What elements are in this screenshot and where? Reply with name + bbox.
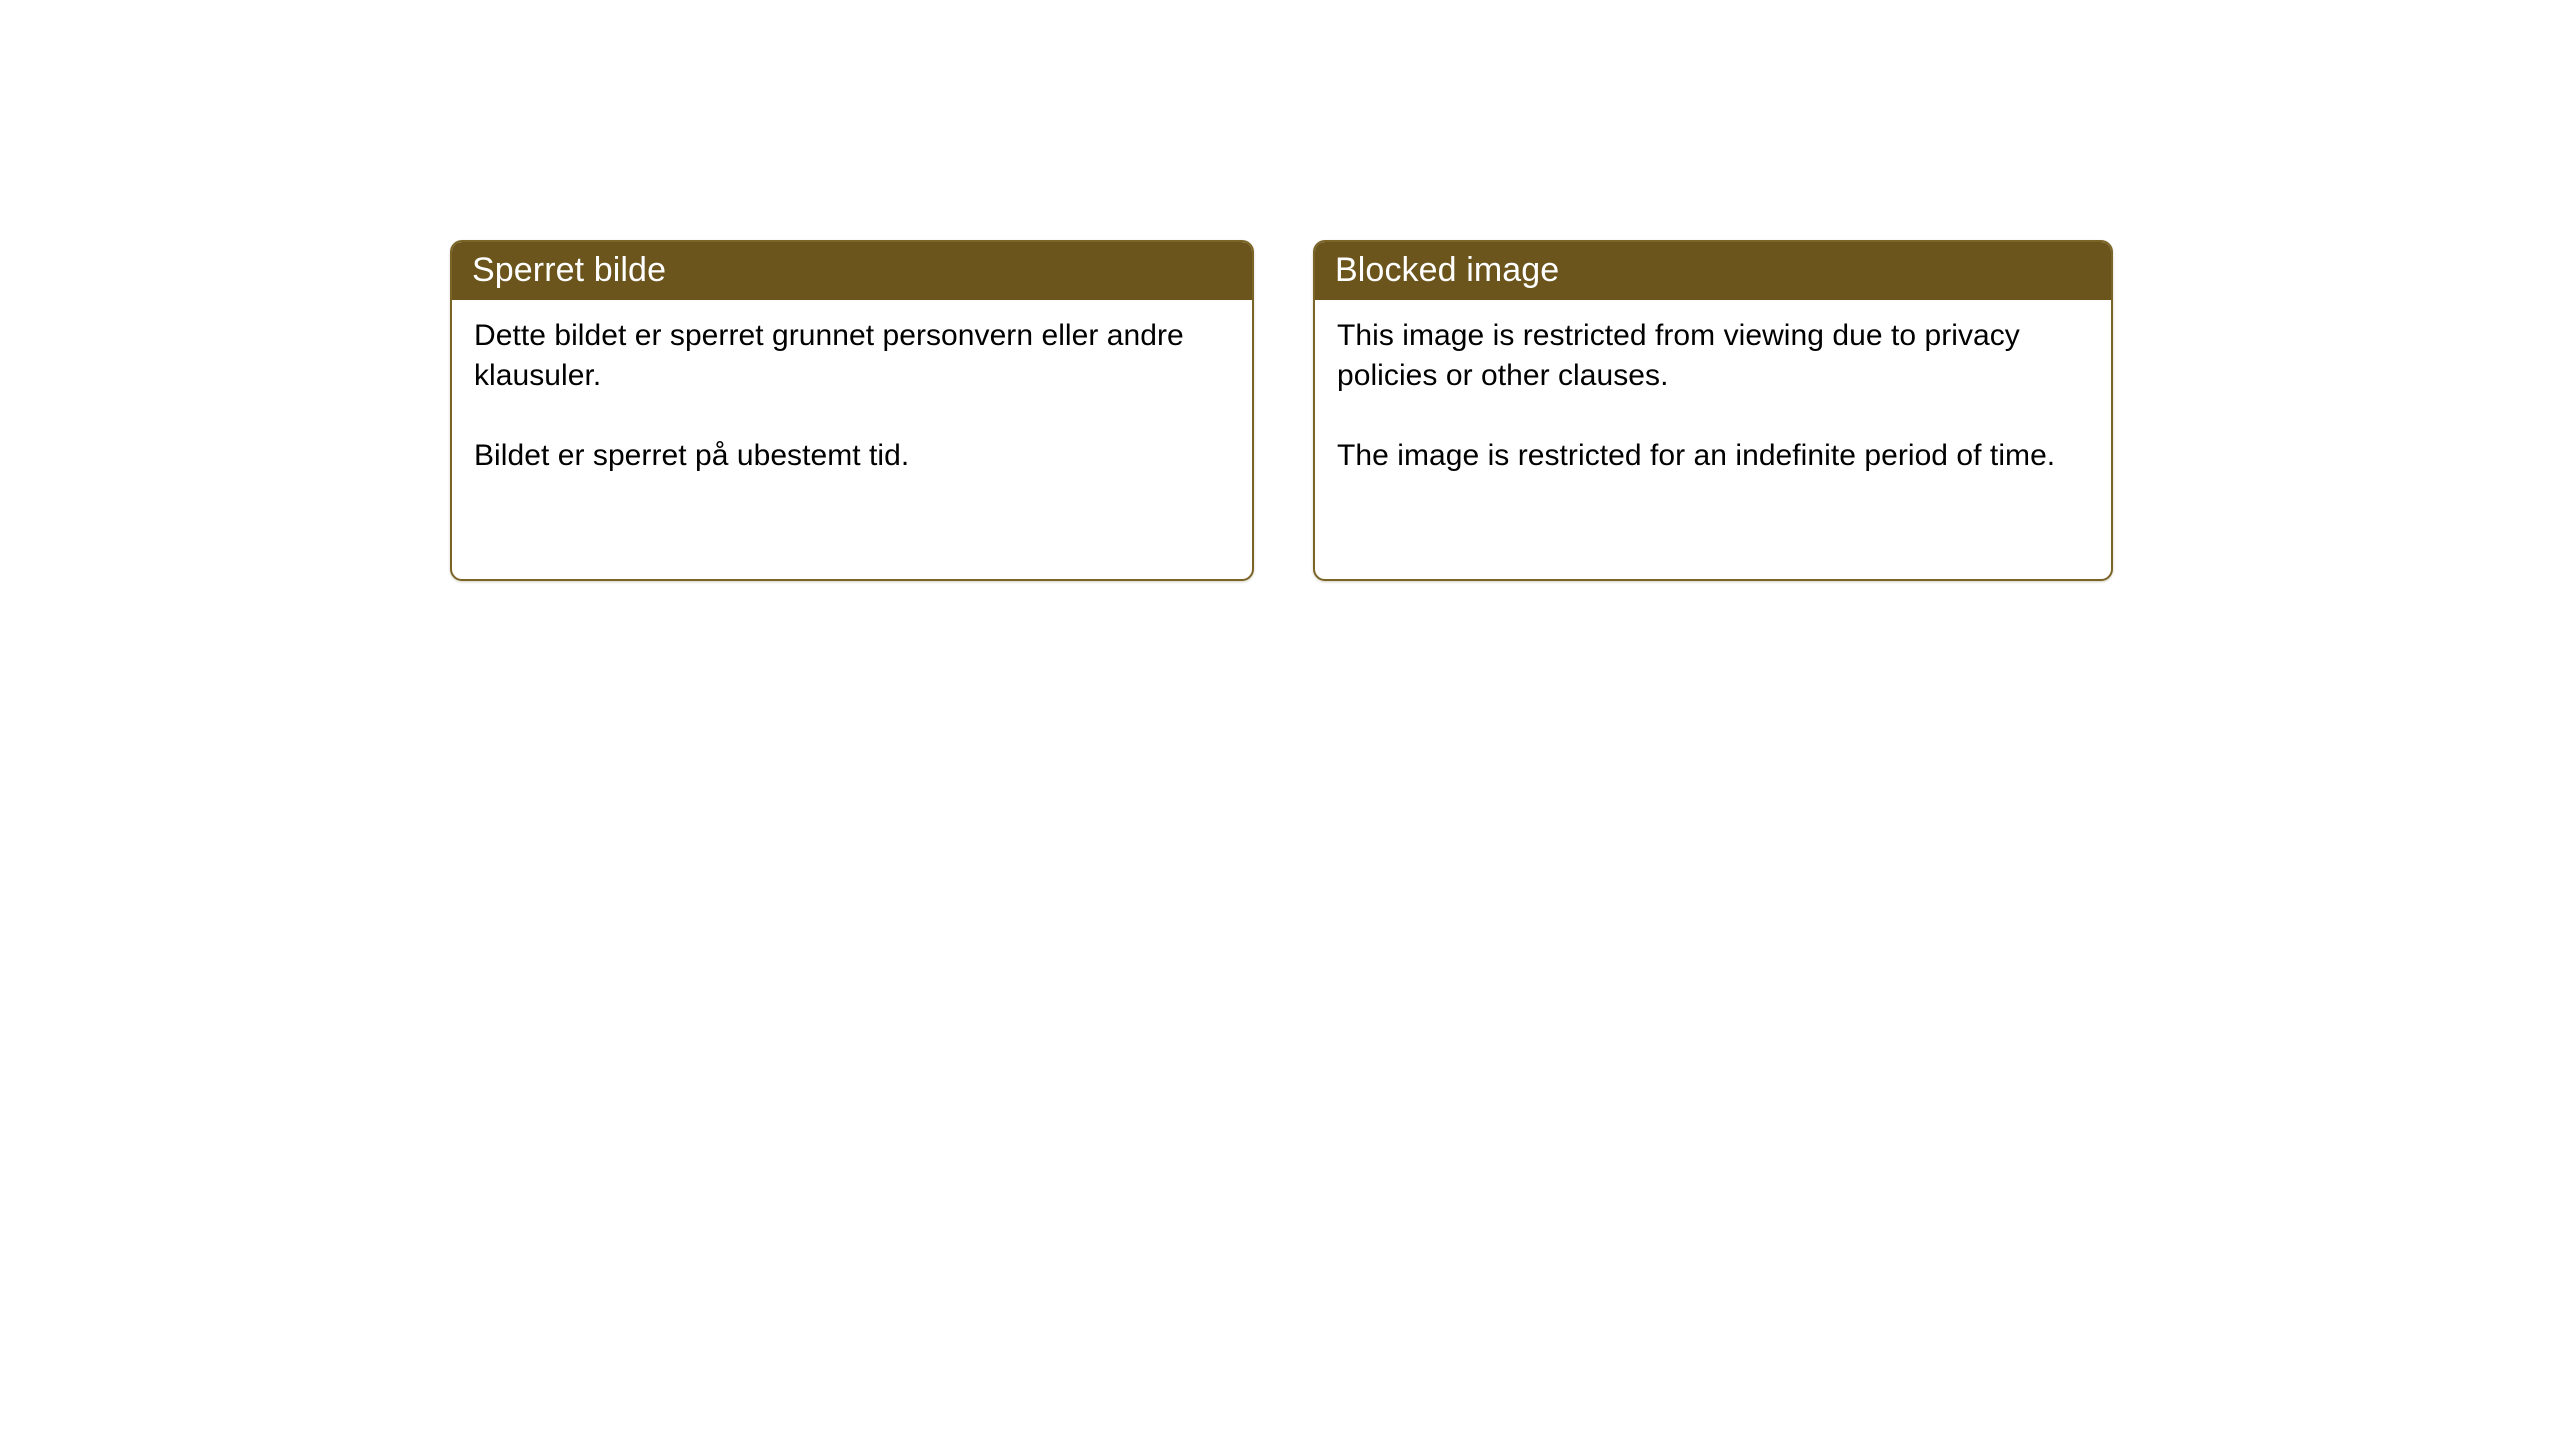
- card-header-english: Blocked image: [1313, 240, 2113, 300]
- card-title-english: Blocked image: [1335, 251, 1559, 289]
- card-body-english: This image is restricted from viewing du…: [1315, 300, 2111, 476]
- card-body-norwegian: Dette bildet er sperret grunnet personve…: [452, 300, 1252, 476]
- card-paragraph-restriction-duration-english: The image is restricted for an indefinit…: [1337, 436, 2089, 476]
- card-paragraph-restriction-reason-english: This image is restricted from viewing du…: [1337, 316, 2089, 396]
- card-paragraph-restriction-reason-norwegian: Dette bildet er sperret grunnet personve…: [474, 316, 1230, 396]
- card-paragraph-restriction-duration-norwegian: Bildet er sperret på ubestemt tid.: [474, 436, 1230, 476]
- page-canvas: Sperret bilde Dette bildet er sperret gr…: [0, 0, 2560, 1440]
- card-title-norwegian: Sperret bilde: [472, 251, 666, 289]
- blocked-image-notice-card-norwegian: Sperret bilde Dette bildet er sperret gr…: [450, 240, 1254, 581]
- card-header-norwegian: Sperret bilde: [450, 240, 1254, 300]
- blocked-image-notice-card-english: Blocked image This image is restricted f…: [1313, 240, 2113, 581]
